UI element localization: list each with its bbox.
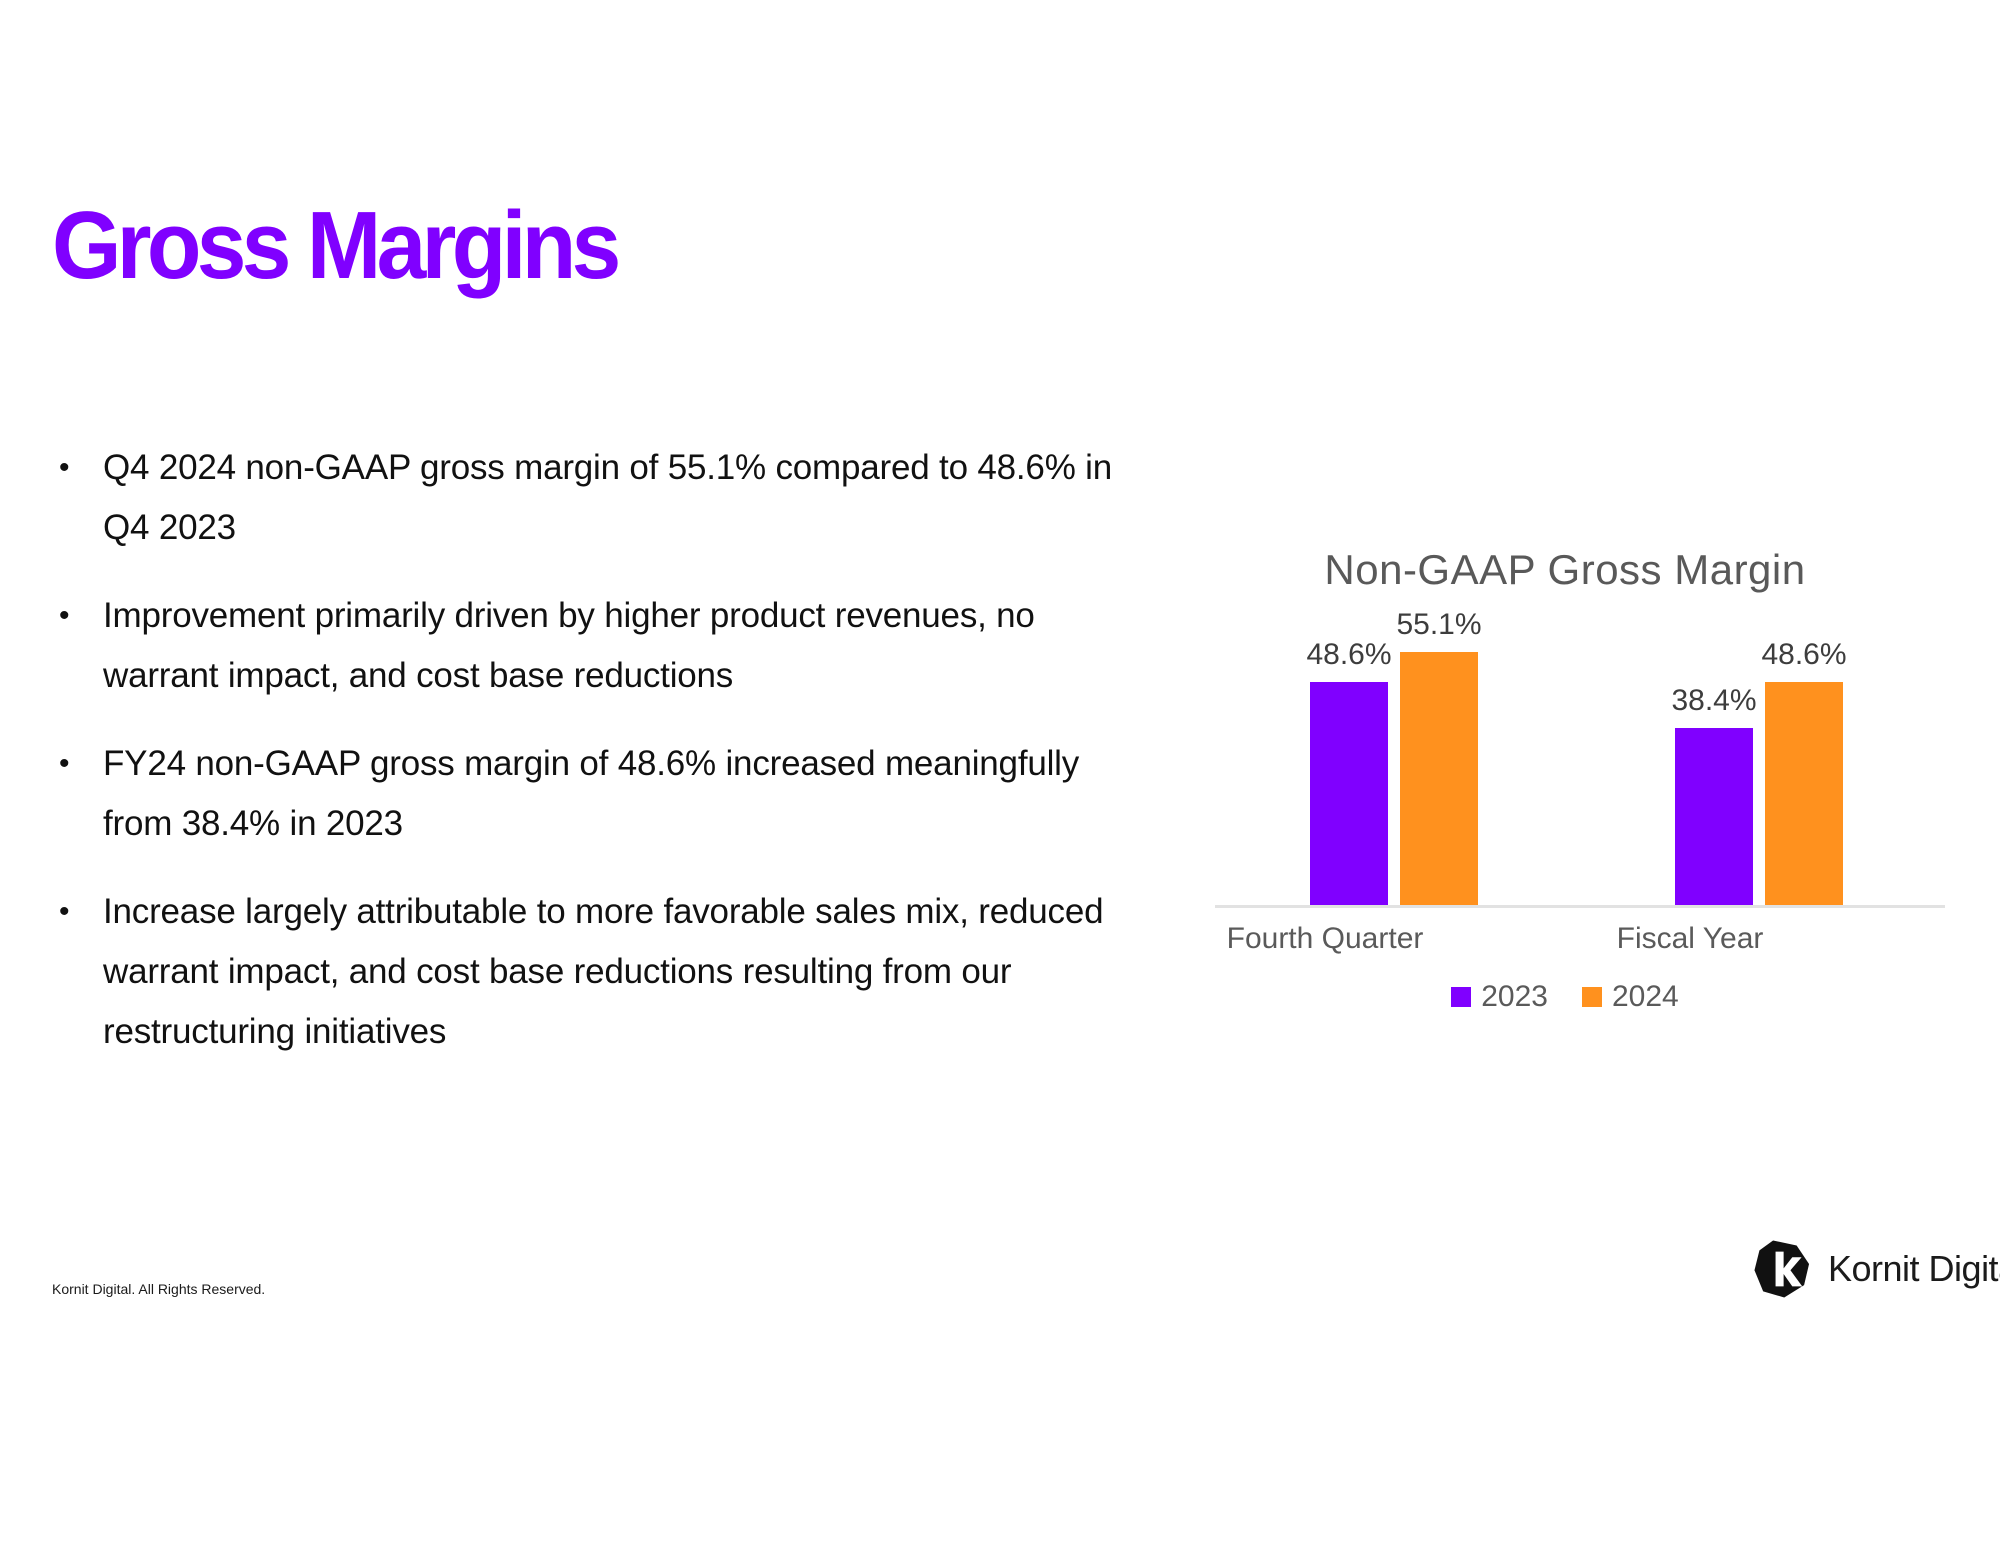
chart-category-label-1: Fiscal Year <box>1540 922 1840 956</box>
list-item: • Increase largely attributable to more … <box>55 882 1125 1062</box>
chart-legend: 2023 2024 <box>1165 982 1965 1012</box>
chart-plot-area: 48.6%55.1%38.4%48.6% <box>1215 620 1945 905</box>
chart-axis-baseline <box>1215 905 1945 908</box>
legend-swatch-icon <box>1451 987 1471 1007</box>
bullet-text: Improvement primarily driven by higher p… <box>103 586 1125 706</box>
chart-category-label-0: Fourth Quarter <box>1175 922 1475 956</box>
bullet-marker-icon: • <box>55 586 103 646</box>
legend-item-2024[interactable]: 2024 <box>1582 982 1679 1012</box>
bullet-marker-icon: • <box>55 438 103 498</box>
copyright-text: Kornit Digital. All Rights Reserved. <box>52 1281 265 1297</box>
chart-title: Non-GAAP Gross Margin <box>1165 546 1965 594</box>
legend-label: 2024 <box>1612 982 1679 1012</box>
bullet-marker-icon: • <box>55 882 103 942</box>
bullet-text: FY24 non-GAAP gross margin of 48.6% incr… <box>103 734 1125 854</box>
chart-bar <box>1765 682 1843 905</box>
legend-swatch-icon <box>1582 987 1602 1007</box>
page-title: Gross Margins <box>52 198 617 294</box>
slide-canvas: Gross Margins • Q4 2024 non-GAAP gross m… <box>0 0 2000 1545</box>
chart-bar <box>1675 728 1753 905</box>
legend-label: 2023 <box>1481 982 1548 1012</box>
chart-bar <box>1400 652 1478 905</box>
bullet-list: • Q4 2024 non-GAAP gross margin of 55.1%… <box>55 438 1125 1090</box>
chart-bar <box>1310 682 1388 905</box>
list-item: • Improvement primarily driven by higher… <box>55 586 1125 706</box>
kornit-logo: Kornit Digital <box>1752 1238 2000 1300</box>
legend-item-2023[interactable]: 2023 <box>1451 982 1548 1012</box>
chart-bar-value-label: 48.6% <box>1724 638 1884 672</box>
bullet-text: Q4 2024 non-GAAP gross margin of 55.1% c… <box>103 438 1125 558</box>
bullet-marker-icon: • <box>55 734 103 794</box>
chart-bar-value-label: 55.1% <box>1359 608 1519 642</box>
list-item: • Q4 2024 non-GAAP gross margin of 55.1%… <box>55 438 1125 558</box>
kornit-hexagon-k-icon <box>1752 1238 1814 1300</box>
kornit-logo-text: Kornit Digital <box>1828 1251 2000 1287</box>
list-item: • FY24 non-GAAP gross margin of 48.6% in… <box>55 734 1125 854</box>
gross-margin-bar-chart: Non-GAAP Gross Margin 48.6%55.1%38.4%48.… <box>1165 530 1965 1050</box>
bullet-text: Increase largely attributable to more fa… <box>103 882 1125 1062</box>
